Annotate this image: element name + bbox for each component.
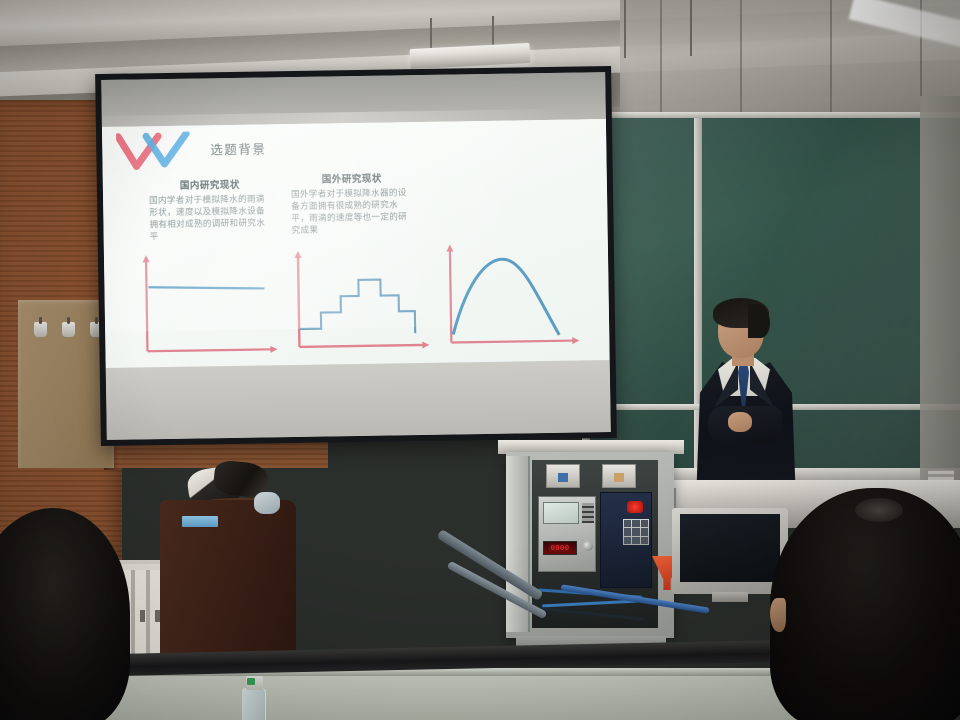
coat-hook-icon[interactable]: [62, 322, 75, 337]
controller-lcd-screen: [543, 502, 579, 524]
controller-round-button[interactable]: [583, 541, 593, 551]
led-display-value: 0000: [551, 544, 570, 552]
audience-head-right: [770, 488, 960, 720]
double-v-logo: [116, 131, 205, 172]
blackboard-top-frame: [582, 112, 960, 118]
presenter: [688, 300, 806, 500]
controller-knobs[interactable]: [582, 503, 594, 523]
classroom-scene: 建 大 第 九 届 挑 战 杯 答 选题背景 国内研究现状 国内学者对于模拟降水…: [0, 0, 960, 720]
slide-title: 选题背景: [210, 138, 266, 158]
staircase-chart: [282, 245, 434, 359]
presenter-hand: [728, 412, 752, 432]
arch-curve-chart: [434, 240, 586, 354]
column-body-text: 国外学者对于模拟降水器的设备方面拥有很成熟的研究水平，雨滴的速度等也一定的研究成…: [291, 187, 414, 238]
vfd-brand-logo: [627, 501, 643, 513]
monitor-screen: [680, 514, 780, 582]
water-bottle: [240, 676, 268, 720]
column-heading: 国外研究现状: [291, 170, 413, 186]
vfd-keypad[interactable]: [623, 519, 649, 545]
vfd-inverter[interactable]: [600, 492, 652, 588]
bottle-label: [247, 678, 255, 685]
flat-response-chart: [132, 249, 284, 363]
coat-hook-icon[interactable]: [34, 322, 47, 337]
column-body-text: 国内学者对于模拟降水的雨滴形状，速度以及模拟降水设备拥有相对成熟的调研和研究水平: [149, 193, 272, 244]
column-heading: 国内研究现状: [149, 176, 271, 192]
monitor-stand: [712, 592, 748, 602]
audience-ear: [770, 598, 786, 632]
slide-charts: [104, 242, 610, 366]
slide-column-domestic: 国内研究现状 国内学者对于模拟降水的雨滴形状，速度以及模拟降水设备拥有相对成熟的…: [149, 176, 272, 244]
audience-head-highlight: [855, 498, 903, 522]
podium-label-card: [182, 516, 218, 527]
light-hanger-rod: [624, 0, 626, 58]
presentation-slide: 选题背景 国内研究现状 国内学者对于模拟降水的雨滴形状，速度以及模拟降水设备拥有…: [102, 119, 610, 368]
light-hanger-rod: [690, 0, 692, 56]
screen-bottom-band: [106, 360, 611, 440]
controller-panel[interactable]: 0000: [538, 496, 596, 572]
podium-item-bottle: [254, 492, 280, 514]
right-wall: [920, 96, 960, 516]
projector-screen: 选题背景 国内研究现状 国内学者对于模拟降水的雨滴形状，速度以及模拟降水设备拥有…: [95, 66, 617, 446]
circuit-breaker[interactable]: [602, 464, 636, 488]
slide-column-foreign: 国外研究现状 国外学者对于模拟降水器的设备方面拥有很成熟的研究水平，雨滴的速度等…: [291, 170, 414, 238]
led-display: 0000: [543, 541, 577, 555]
screen-top-band: [101, 72, 606, 127]
circuit-breaker[interactable]: [546, 464, 580, 488]
